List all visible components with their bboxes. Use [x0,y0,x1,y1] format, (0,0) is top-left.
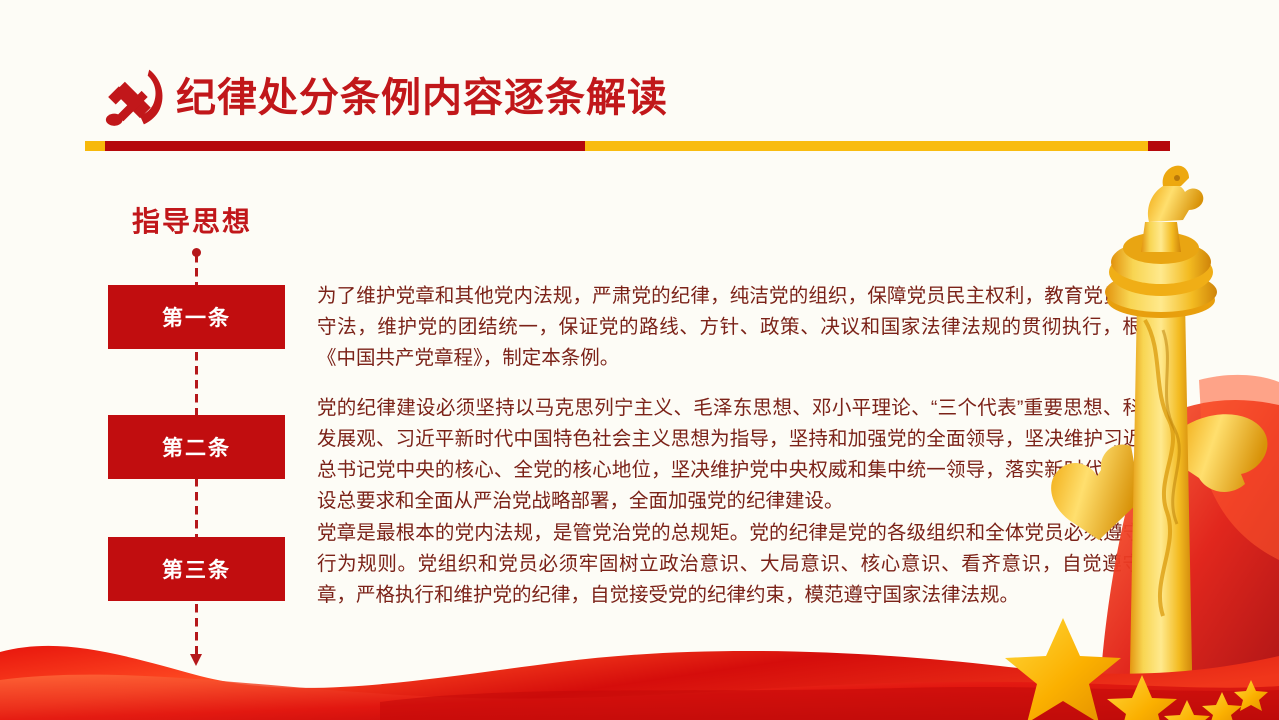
divider-left-cap [85,141,105,151]
article-chip-3[interactable]: 第三条 [108,537,285,601]
page-title: 纪律处分条例内容逐条解读 [176,70,668,126]
article-chip-2[interactable]: 第二条 [108,415,285,479]
section-heading: 指导思想 [132,200,252,240]
article-chip-1[interactable]: 第一条 [108,285,285,349]
article-chip-label: 第二条 [162,432,231,462]
article-chip-label: 第三条 [162,554,231,584]
divider-yellow-segment [585,141,1148,151]
article-text-2: 党的纪律建设必须坚持以马克思列宁主义、毛泽东思想、邓小平理论、“三个代表”重要思… [317,393,1162,517]
divider-red-segment [105,141,585,151]
slide-canvas: 纪律处分条例内容逐条解读 指导思想 第一条 第二条 第三条 为了维护党章和其他党… [0,0,1279,720]
hammer-sickle-icon [96,62,172,138]
arrow-down-icon [190,654,202,666]
gold-star-icon [1005,618,1268,720]
article-text-3: 党章是最根本的党内法规，是管党治党的总规矩。党的纪律是党的各级组织和全体党员必须… [317,518,1162,611]
header-divider-bar [85,141,1170,151]
divider-right-cap [1148,141,1170,151]
article-chip-label: 第一条 [162,302,231,332]
article-text-1: 为了维护党章和其他党内法规，严肃党的纪律，纯洁党的组织，保障党员民主权利，教育党… [317,281,1162,374]
